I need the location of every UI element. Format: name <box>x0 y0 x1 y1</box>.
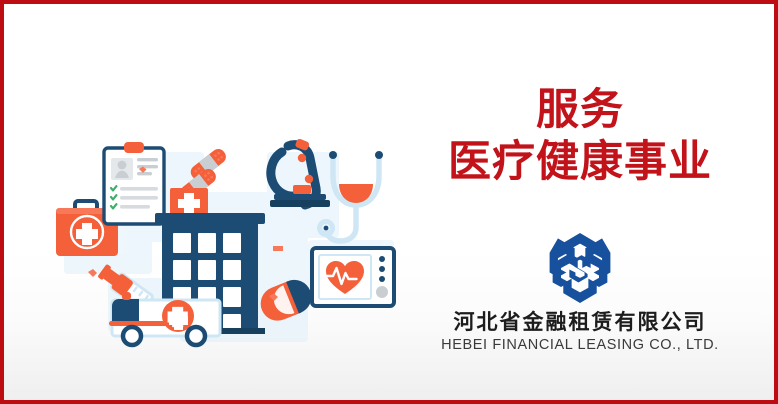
company-logo-block: 河北省金融租赁有限公司 HEBEI FINANCIAL LEASING CO.,… <box>394 230 766 354</box>
headline-line-2: 医疗健康事业 <box>394 138 766 186</box>
heart-monitor-icon <box>312 248 394 306</box>
headline: 服务 医疗健康事业 <box>394 86 766 186</box>
company-name-en: HEBEI FINANCIAL LEASING CO., LTD. <box>394 338 766 354</box>
headline-line-1: 服务 <box>394 86 766 134</box>
ambulance-icon <box>109 292 220 345</box>
company-name-cn: 河北省金融租赁有限公司 <box>394 311 766 334</box>
medical-illustration <box>12 100 402 350</box>
hebei-financial-leasing-logo-icon <box>542 230 618 306</box>
clipboard-patient-record-icon <box>104 142 164 224</box>
slide-canvas: 服务 医疗健康事业 河北省金融租赁有限公司 HEBEI FINANCIAL LE… <box>0 0 778 404</box>
